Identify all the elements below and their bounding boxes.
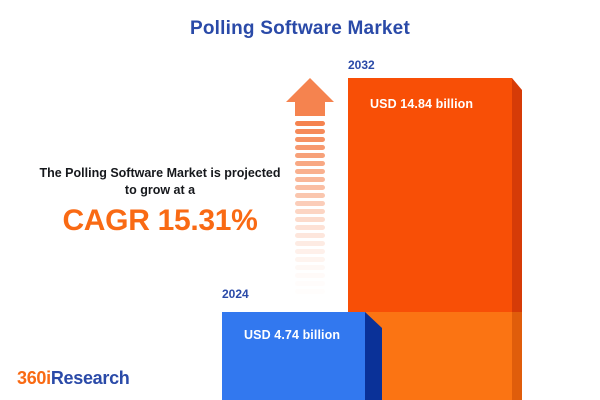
brand-logo-part-blue: Research (51, 368, 130, 388)
bar-label-2032: 2032 (348, 58, 375, 72)
bar-2024 (222, 312, 400, 400)
bar-2024-front (222, 312, 365, 400)
bar-2032-side-lower (512, 312, 522, 400)
infographic-canvas: Polling Software Market The Polling Soft… (0, 0, 600, 400)
bar-label-2024: 2024 (222, 287, 249, 301)
bar-2024-side (365, 328, 382, 400)
cagr-annotation-block: The Polling Software Market is projected… (36, 165, 284, 237)
bar-2032-side-upper (512, 90, 522, 312)
bar-value-2024: USD 4.74 billion (244, 328, 340, 342)
bar-2032-side-bevel (512, 78, 522, 90)
bar-value-2032: USD 14.84 billion (370, 97, 473, 111)
up-arrow-icon (286, 78, 334, 294)
cagr-value-text: CAGR 15.31% (36, 204, 284, 237)
cagr-lead-text: The Polling Software Market is projected… (36, 165, 284, 199)
bar-2032-front-upper (348, 78, 512, 312)
brand-logo: 360iResearch (17, 368, 130, 389)
page-title: Polling Software Market (0, 18, 600, 40)
brand-logo-part-orange: 360i (17, 368, 51, 388)
bar-2024-side-bevel (365, 312, 382, 328)
